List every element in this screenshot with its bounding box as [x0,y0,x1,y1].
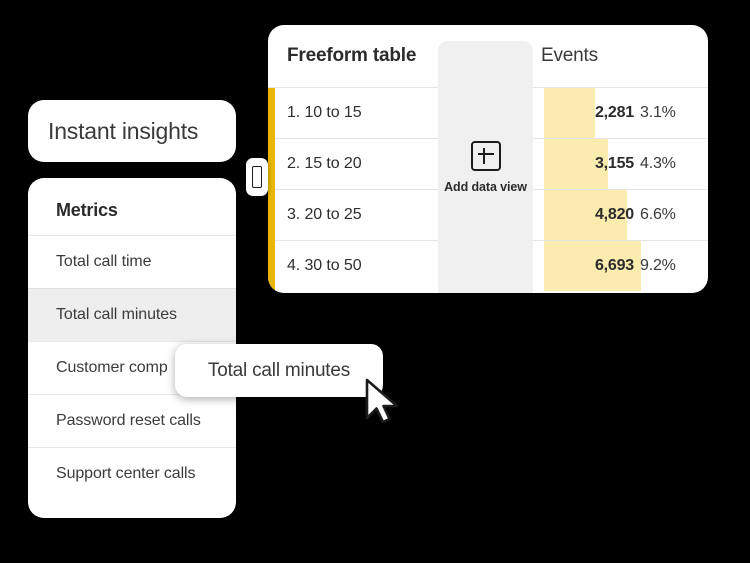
table-header-dimension: Freeform table [287,45,416,67]
metric-item[interactable]: Total call minutes [28,288,236,341]
table-row-label: 1. 10 to 15 [287,104,362,122]
drag-handle-icon[interactable] [246,158,268,196]
table-header-metric: Events [541,45,598,67]
table-row-percent: 6.6% [640,206,676,224]
tooltip: Total call minutes [175,344,383,397]
table-row-percent: 3.1% [640,104,676,122]
tooltip-text: Total call minutes [208,360,350,382]
table-row-value: 3,155 [556,155,634,173]
canvas-background: Instant insights Metrics Total call time… [0,0,750,563]
freeform-table-card: Freeform table Events 1. 10 to 152,2813.… [268,25,708,293]
add-data-view-label: Add data view [444,180,527,194]
metric-item-label: Total call minutes [56,306,177,324]
metric-item-label: Support center calls [56,465,195,483]
table-row-percent: 9.2% [640,257,676,275]
add-data-view-button[interactable]: Add data view [438,41,533,293]
mouse-pointer-icon [364,378,404,426]
table-row-label: 2. 15 to 20 [287,155,362,173]
metric-item[interactable]: Support center calls [28,447,236,500]
drag-handle-grip [252,166,262,188]
metrics-title: Metrics [28,178,236,235]
table-row-label: 4. 30 to 50 [287,257,362,275]
metric-item-label: Total call time [56,253,151,271]
table-row-value: 4,820 [556,206,634,224]
instant-insights-card[interactable]: Instant insights [28,100,236,162]
table-row-value: 2,281 [556,104,634,122]
table-row-percent: 4.3% [640,155,676,173]
plus-icon [471,141,501,171]
metric-item-label: Password reset calls [56,412,201,430]
metric-item[interactable]: Password reset calls [28,394,236,447]
metric-item[interactable]: Total call time [28,235,236,288]
table-accent-bar [268,88,275,293]
table-row-label: 3. 20 to 25 [287,206,362,224]
table-row-value: 6,693 [556,257,634,275]
metric-item-label: Customer comp [56,359,168,377]
instant-insights-label: Instant insights [28,118,198,145]
